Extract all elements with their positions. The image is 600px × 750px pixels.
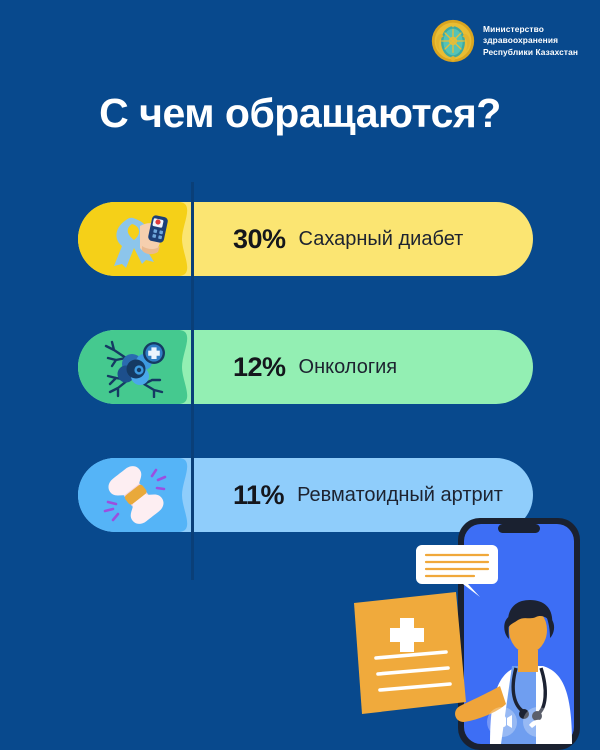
bar-percent: 30% — [233, 224, 286, 255]
stat-bar-diabetes[interactable]: 30% Сахарный диабет — [78, 202, 533, 276]
bar-percent: 12% — [233, 352, 286, 383]
stat-bar-oncology[interactable]: 12% Онкология — [78, 330, 533, 404]
bar-text-group: 30% Сахарный диабет — [233, 202, 513, 276]
page-title: С чем обращаются? — [0, 90, 600, 137]
bar-percent: 11% — [233, 480, 284, 511]
telemedicine-illustration — [340, 500, 600, 750]
ministry-line-3: Республики Казахстан — [483, 47, 578, 58]
video-camera-icon — [494, 715, 512, 728]
bar-text-group: 12% Онкология — [233, 330, 513, 404]
ministry-logo: Министерство здравоохранения Республики … — [430, 18, 578, 64]
infographic-page: Министерство здравоохранения Республики … — [0, 0, 600, 750]
medical-prescription — [354, 592, 466, 714]
ministry-name: Министерство здравоохранения Республики … — [483, 24, 578, 57]
ministry-line-1: Министерство — [483, 24, 578, 35]
kazakhstan-state-emblem-icon — [430, 18, 476, 64]
ribbon-glucometer-icon — [96, 208, 176, 270]
ministry-line-2: здравоохранения — [483, 35, 578, 46]
bar-label: Сахарный диабет — [299, 228, 464, 251]
cancer-cell-cross-icon — [96, 336, 176, 398]
bar-label: Онкология — [299, 356, 398, 379]
joint-pain-icon — [96, 464, 176, 526]
vertical-connector-line — [191, 182, 194, 580]
